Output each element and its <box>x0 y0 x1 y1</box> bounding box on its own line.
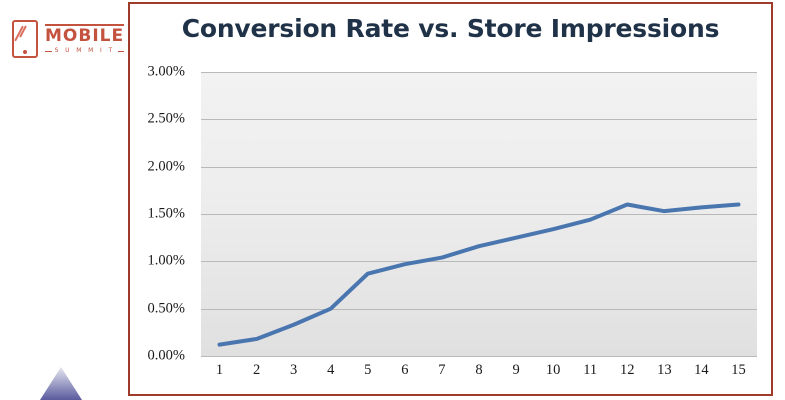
x-axis-tick-label: 5 <box>364 362 371 379</box>
line-series-svg <box>201 72 757 356</box>
x-axis-tick-label: 7 <box>438 362 445 379</box>
x-axis-tick-label: 9 <box>512 362 519 379</box>
x-axis-tick-label: 15 <box>731 362 746 379</box>
x-axis-tick-label: 13 <box>657 362 672 379</box>
line-series-conversion-rate <box>220 205 739 345</box>
brand-subtitle-row: S U M M I T <box>45 48 124 54</box>
chart-title: Conversion Rate vs. Store Impressions <box>130 14 771 43</box>
y-axis-tick-label: 0.50% <box>115 300 185 317</box>
chart-panel: Conversion Rate vs. Store Impressions 0.… <box>128 2 773 396</box>
x-axis-tick-label: 12 <box>620 362 635 379</box>
y-axis-tick-label: 1.00% <box>115 253 185 270</box>
x-axis-tick-label: 10 <box>546 362 561 379</box>
x-axis-tick-label: 8 <box>475 362 482 379</box>
brand-subtitle: S U M M I T <box>55 48 115 54</box>
brand-wordmark: MOBILE S U M M I T <box>45 24 124 54</box>
x-axis-tick-label: 1 <box>216 362 223 379</box>
x-axis-tick-label: 11 <box>583 362 597 379</box>
x-axis-tick-label: 3 <box>290 362 297 379</box>
triangle-decoration <box>40 367 82 400</box>
left-rail: MOBILE S U M M I T <box>0 0 128 400</box>
y-axis-tick-label: 0.00% <box>115 348 185 365</box>
y-axis-tick-label: 2.50% <box>115 111 185 128</box>
plot-area <box>201 72 757 356</box>
brand-name: MOBILE <box>45 28 124 45</box>
y-axis-tick-label: 1.50% <box>115 206 185 223</box>
gridline-0.00 <box>201 356 757 357</box>
x-axis-tick-label: 14 <box>694 362 709 379</box>
x-axis-tick-label: 2 <box>253 362 260 379</box>
y-axis-tick-label: 2.00% <box>115 158 185 175</box>
brand-dash-left <box>45 51 52 52</box>
x-axis-tick-label: 4 <box>327 362 334 379</box>
x-axis-tick-label: 6 <box>401 362 408 379</box>
brand-dash-right <box>118 51 125 52</box>
y-axis-tick-label: 3.00% <box>115 64 185 81</box>
mobile-phone-icon <box>12 20 38 58</box>
brand-logo: MOBILE S U M M I T <box>12 14 116 64</box>
